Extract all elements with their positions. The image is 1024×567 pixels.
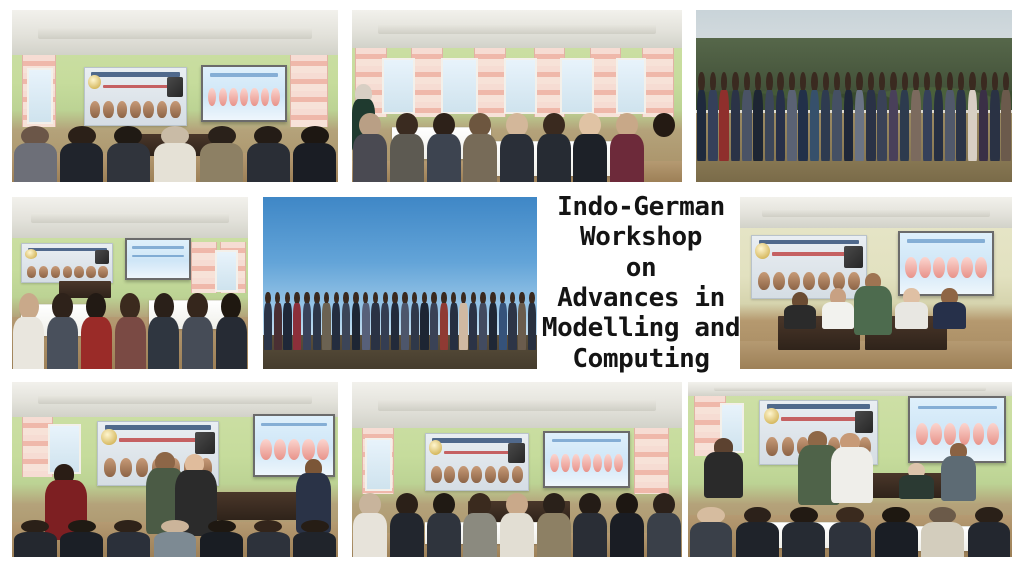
title-line-5: Modelling and: [542, 313, 740, 343]
photo-dais-speakers: [740, 197, 1012, 369]
photo-panel-wide-audience: [352, 382, 682, 557]
photo-group-hillside-evening: [696, 10, 1012, 182]
photo-group-open-sky: [263, 197, 537, 369]
photo-collage: Indo-German Workshop on Advances in Mode…: [0, 0, 1024, 567]
workshop-title-block: Indo-German Workshop on Advances in Mode…: [545, 195, 737, 371]
photo-shawl-felicitation: [688, 382, 1012, 557]
audience-silhouettes: [12, 124, 338, 182]
title-line-2: Workshop: [580, 222, 702, 252]
photo-audience-seated-rows: [352, 10, 682, 182]
title-line-6: Computing: [572, 344, 709, 374]
title-line-3: on: [626, 253, 657, 283]
title-line-1: Indo-German: [557, 192, 725, 222]
title-line-4: Advances in: [557, 283, 725, 313]
photo-inaugural-session-panel: [12, 10, 338, 182]
group-photo-people: [696, 72, 1012, 161]
photo-memento-presentation: [12, 382, 338, 557]
photo-lecture-hall-laptops: [12, 197, 248, 369]
